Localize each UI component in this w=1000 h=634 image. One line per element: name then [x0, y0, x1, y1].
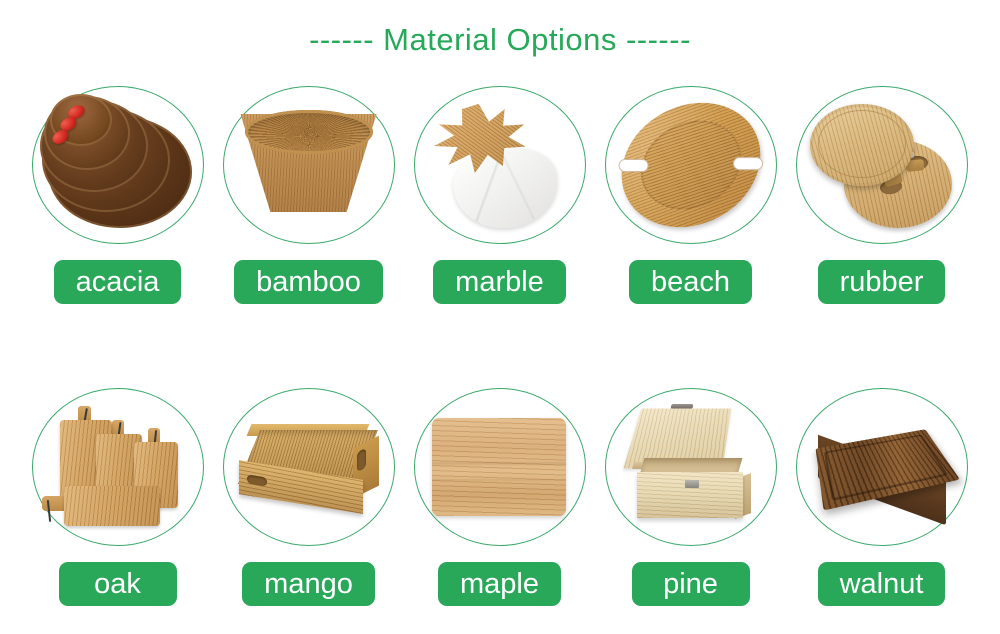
pine-box-clasp	[685, 480, 699, 488]
material-row-2: oak	[22, 388, 978, 606]
material-label-beach[interactable]: beach	[629, 260, 752, 304]
material-image-frame-acacia	[32, 86, 204, 244]
material-label-maple[interactable]: maple	[438, 562, 561, 606]
material-image-frame-bamboo	[223, 86, 395, 244]
material-card-beach[interactable]: beach	[595, 86, 786, 304]
maple-cutting-board-image	[420, 392, 580, 542]
beech-oval-tray-image	[611, 90, 771, 240]
page-title: ------ Material Options ------	[0, 22, 1000, 58]
material-gallery-grid: acacia bamboo	[22, 86, 978, 606]
beech-tray-handle-2	[733, 157, 763, 170]
material-label-walnut[interactable]: walnut	[818, 562, 946, 606]
material-card-marble[interactable]: marble	[404, 86, 595, 304]
oak-board-set-image	[38, 392, 198, 542]
material-label-bamboo[interactable]: bamboo	[234, 260, 383, 304]
bamboo-bowl-image	[229, 90, 389, 240]
material-label-mango[interactable]: mango	[242, 562, 375, 606]
material-card-mango[interactable]: mango	[213, 388, 404, 606]
cheese-board-top-groove	[818, 110, 906, 178]
material-card-pine[interactable]: pine	[595, 388, 786, 606]
material-label-pine[interactable]: pine	[632, 562, 750, 606]
material-options-page: ------ Material Options ------	[0, 0, 1000, 634]
material-card-walnut[interactable]: walnut	[786, 388, 977, 606]
material-label-rubber[interactable]: rubber	[818, 260, 946, 304]
material-label-marble[interactable]: marble	[433, 260, 566, 304]
material-image-frame-maple	[414, 388, 586, 546]
beech-tray-handle-1	[618, 159, 648, 172]
mango-tray-group	[235, 420, 383, 516]
material-card-bamboo[interactable]: bamboo	[213, 86, 404, 304]
rubberwood-cheese-board-image	[802, 90, 962, 240]
material-image-frame-marble	[414, 86, 586, 244]
material-label-oak[interactable]: oak	[59, 562, 177, 606]
mango-wood-tray-image	[229, 392, 389, 542]
material-image-frame-pine	[605, 388, 777, 546]
material-image-frame-walnut	[796, 388, 968, 546]
bamboo-bowl-rim	[245, 110, 373, 154]
material-card-acacia[interactable]: acacia	[22, 86, 213, 304]
walnut-board-group	[814, 418, 950, 514]
oak-board-4-grain	[64, 486, 160, 526]
material-image-frame-oak	[32, 388, 204, 546]
material-image-frame-mango	[223, 388, 395, 546]
pine-box-image	[611, 392, 771, 542]
acacia-plates-image	[38, 90, 198, 240]
material-image-frame-beach	[605, 86, 777, 244]
maple-board-grain	[432, 418, 566, 516]
material-row-1: acacia bamboo	[22, 86, 978, 304]
material-image-frame-rubber	[796, 86, 968, 244]
material-card-maple[interactable]: maple	[404, 388, 595, 606]
marble-pineapple-board-image	[420, 90, 580, 240]
material-card-rubber[interactable]: rubber	[786, 86, 977, 304]
material-label-acacia[interactable]: acacia	[54, 260, 182, 304]
pine-box-body-grain	[637, 472, 743, 518]
beech-tray-group	[599, 79, 782, 251]
walnut-cutting-board-image	[802, 392, 962, 542]
material-card-oak[interactable]: oak	[22, 388, 213, 606]
